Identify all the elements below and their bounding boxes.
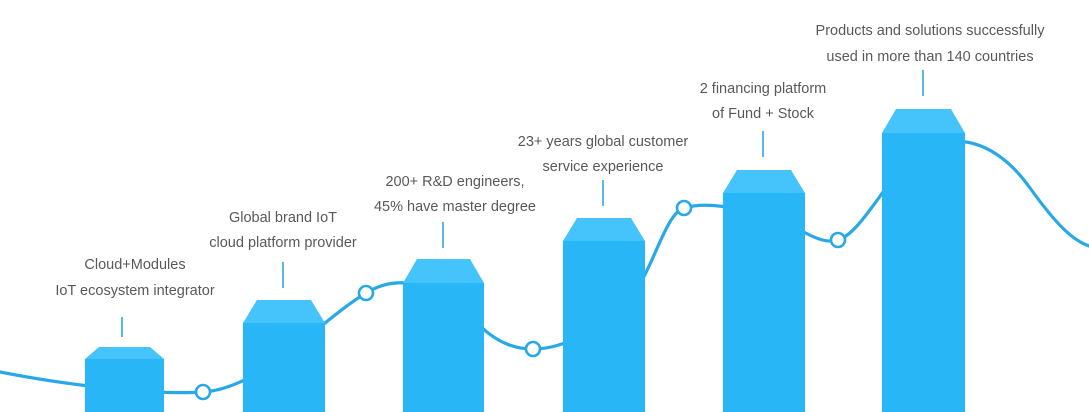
bar-label-4-line-1: 23+ years global customer xyxy=(518,134,689,150)
bar-body-6 xyxy=(882,133,965,412)
bar-body-5 xyxy=(723,193,805,412)
curve-marker-4 xyxy=(677,201,691,215)
bar-label-5-line-1: 2 financing platform xyxy=(700,81,827,97)
chart-canvas: Cloud+ModulesIoT ecosystem integratorGlo… xyxy=(0,0,1089,412)
bar-label-4-line-2: service experience xyxy=(543,159,664,175)
bar-body-1 xyxy=(85,359,164,412)
curve-marker-5 xyxy=(831,233,845,247)
bar-label-1-line-1: Cloud+Modules xyxy=(84,257,185,273)
bar-label-5-line-2: of Fund + Stock xyxy=(712,106,815,122)
bar-top-face-6 xyxy=(882,109,965,133)
curve-marker-1 xyxy=(196,385,210,399)
bar-top-face-5 xyxy=(723,170,805,193)
bar-5 xyxy=(723,170,805,412)
bar-top-face-2 xyxy=(243,300,325,323)
bar-label-3-line-1: 200+ R&D engineers, xyxy=(385,174,524,190)
bar-label-3-line-2: 45% have master degree xyxy=(374,199,536,215)
bar-3 xyxy=(403,259,484,412)
curve-marker-3 xyxy=(526,342,540,356)
bar-label-2-line-1: Global brand IoT xyxy=(229,210,337,226)
bar-label-6-line-2: used in more than 140 countries xyxy=(826,49,1033,65)
bar-label-1-line-2: IoT ecosystem integrator xyxy=(55,283,214,299)
bar-2 xyxy=(243,300,325,412)
bar-4 xyxy=(563,218,645,412)
bar-label-2-line-2: cloud platform provider xyxy=(209,235,357,251)
bar-top-face-4 xyxy=(563,218,645,241)
curve-marker-2 xyxy=(359,286,373,300)
bar-label-6-line-1: Products and solutions successfully xyxy=(816,23,1046,39)
milestone-growth-chart: Cloud+ModulesIoT ecosystem integratorGlo… xyxy=(0,0,1089,412)
bar-group xyxy=(85,109,965,412)
bar-body-2 xyxy=(243,323,325,412)
bar-top-face-3 xyxy=(403,259,484,283)
bar-1 xyxy=(85,347,164,412)
bar-top-face-1 xyxy=(85,347,164,359)
bar-body-4 xyxy=(563,241,645,412)
bar-6 xyxy=(882,109,965,412)
bar-body-3 xyxy=(403,283,484,412)
